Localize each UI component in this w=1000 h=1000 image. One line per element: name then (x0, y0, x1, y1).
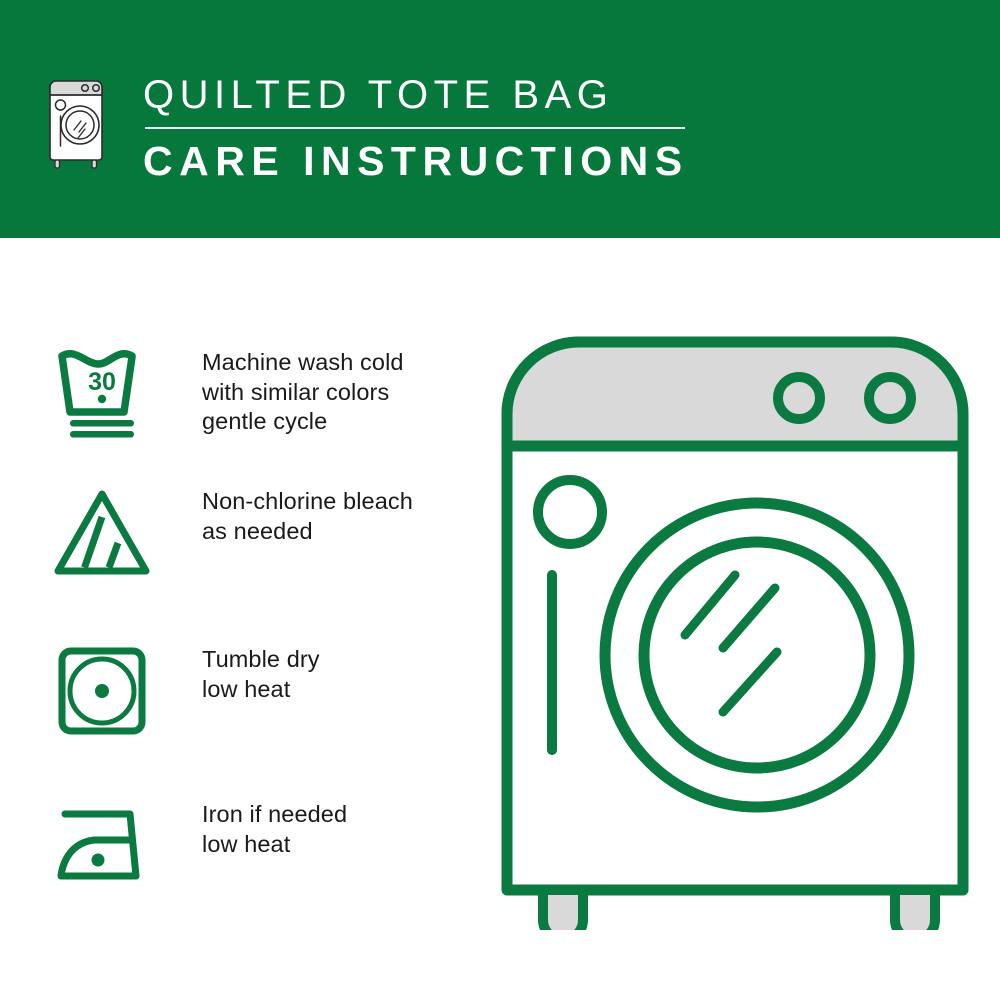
non-chlorine-bleach-triangle-icon (48, 485, 156, 581)
title-divider (145, 127, 685, 129)
care-item-text: Non-chlorine bleach as needed (202, 485, 413, 546)
header-banner: QUILTED TOTE BAG CARE INSTRUCTIONS (0, 0, 1000, 238)
control-panel (507, 342, 963, 446)
care-text-line: gentle cycle (202, 407, 404, 437)
care-symbol-list: 30 Machine wash cold with similar colors… (0, 238, 500, 1000)
machine-leg-right (895, 890, 935, 930)
care-text-line: low heat (202, 675, 320, 705)
care-text-line: Tumble dry (202, 645, 320, 675)
care-item-tumble-dry: Tumble dry low heat (48, 643, 478, 739)
care-item-text: Tumble dry low heat (202, 643, 320, 704)
care-item-text: Iron if needed low heat (202, 798, 347, 859)
washing-machine-illustration (495, 330, 975, 930)
wash-temperature-value: 30 (88, 368, 116, 396)
machine-wash-symbol: 30 (48, 346, 158, 442)
iron-low-heat-icon (48, 798, 156, 894)
care-text-line: Machine wash cold (202, 348, 404, 378)
tumble-dry-symbol (48, 643, 158, 739)
washing-machine-icon (44, 68, 112, 170)
care-text-line: as needed (202, 517, 413, 547)
machine-leg-left (543, 890, 583, 930)
iron-symbol (48, 798, 158, 894)
page-title: QUILTED TOTE BAG (143, 70, 703, 120)
care-item-text: Machine wash cold with similar colors ge… (202, 346, 404, 437)
header-text-block: QUILTED TOTE BAG CARE INSTRUCTIONS (143, 70, 703, 187)
care-text-line: low heat (202, 830, 347, 860)
care-text-line: Non-chlorine bleach (202, 487, 413, 517)
tumble-dry-low-heat-icon (48, 643, 156, 739)
care-text-line: Iron if needed (202, 800, 347, 830)
care-text-line: with similar colors (202, 378, 404, 408)
care-item-machine-wash: 30 Machine wash cold with similar colors… (48, 346, 478, 442)
page-subtitle: CARE INSTRUCTIONS (143, 135, 703, 187)
care-instructions-infographic: QUILTED TOTE BAG CARE INSTRUCTIONS 30 (0, 0, 1000, 1000)
care-item-iron: Iron if needed low heat (48, 798, 478, 894)
care-item-bleach: Non-chlorine bleach as needed (48, 485, 478, 581)
bleach-symbol (48, 485, 158, 581)
machine-wash-30-gentle-icon: 30 (48, 346, 156, 442)
